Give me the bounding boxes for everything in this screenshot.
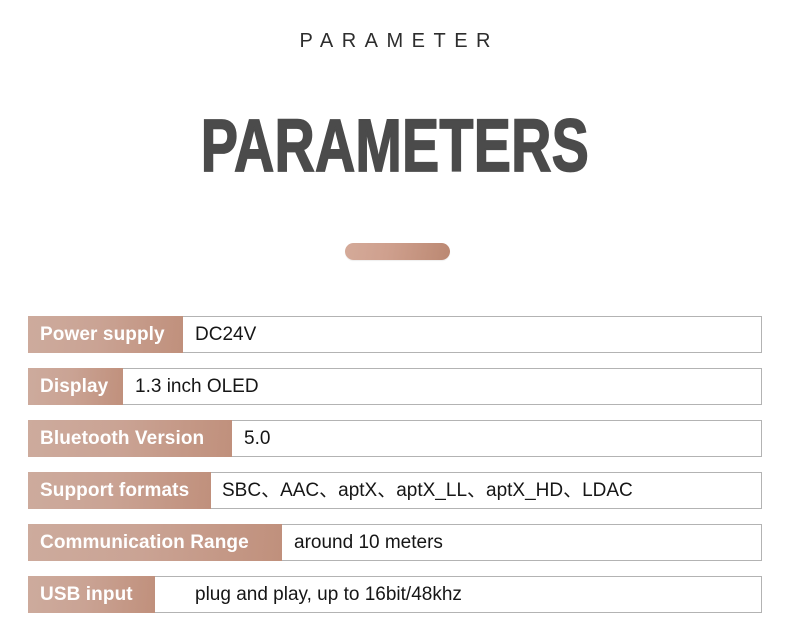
spec-label-cell: Communication Range (28, 524, 282, 561)
spec-value-label: plug and play, up to 16bit/48khz (195, 585, 462, 604)
spec-label-cell: Support formats (28, 472, 211, 509)
table-row: 5.0Bluetooth Version (28, 420, 762, 457)
spec-label-cell: USB input (28, 576, 155, 613)
spec-value-label: 5.0 (244, 429, 270, 448)
page-eyebrow: PARAMETER (0, 28, 790, 54)
spec-label-cell: Display (28, 368, 123, 405)
spec-value-cell: 1.3 inch OLED (28, 368, 762, 405)
spec-label-cell: Bluetooth Version (28, 420, 232, 457)
table-row: SBC、AAC、aptX、aptX_LL、aptX_HD、LDACSupport… (28, 472, 762, 509)
table-row: around 10 metersCommunication Range (28, 524, 762, 561)
page-title: PARAMETERS (63, 105, 727, 186)
table-row: DC24VPower supply (28, 316, 762, 353)
spec-label-cell: Power supply (28, 316, 183, 353)
spec-value-label: around 10 meters (294, 533, 443, 552)
parameters-page: PARAMETER PARAMETERS DC24VPower supply1.… (0, 0, 790, 627)
specifications-table: DC24VPower supply1.3 inch OLEDDisplay5.0… (28, 316, 762, 613)
spec-value-label: 1.3 inch OLED (135, 377, 259, 396)
spec-value-label: DC24V (195, 325, 256, 344)
table-row: plug and play, up to 16bit/48khzUSB inpu… (28, 576, 762, 613)
table-row: 1.3 inch OLEDDisplay (28, 368, 762, 405)
divider-pill (345, 243, 450, 260)
spec-value-label: SBC、AAC、aptX、aptX_LL、aptX_HD、LDAC (222, 481, 633, 500)
